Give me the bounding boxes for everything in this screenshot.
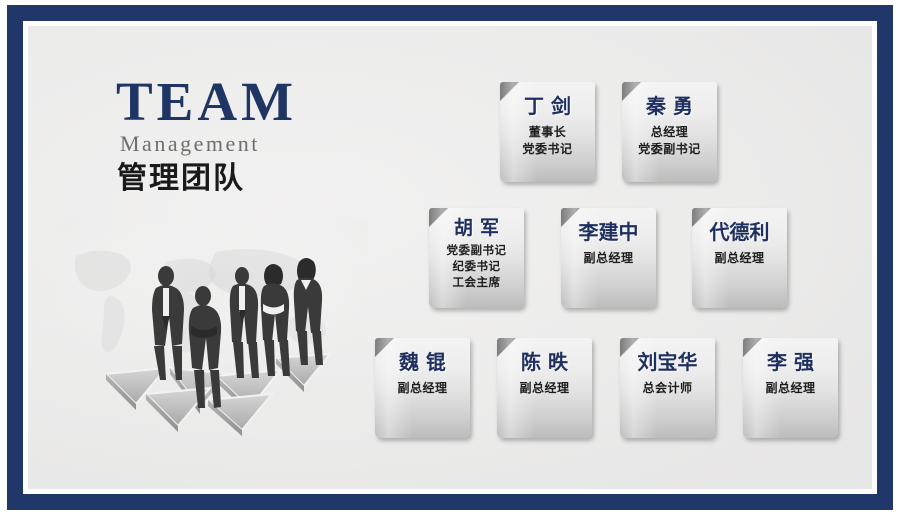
person-card[interactable]: 李建中副总经理: [561, 208, 656, 308]
person-card[interactable]: 胡军党委副书记纪委书记工会主席: [429, 208, 524, 308]
slide-canvas: TEAM Management 管理团队: [28, 26, 872, 489]
person-card-name: 李建中: [579, 222, 639, 243]
person-card-titles: 副总经理: [765, 380, 815, 397]
brand-block: TEAM Management 管理团队: [113, 74, 373, 194]
person-card-name: 胡军: [447, 219, 506, 239]
person-card-title-line: 副总经理: [714, 250, 764, 267]
person-card-titles: 总会计师: [642, 380, 692, 397]
person-card-title-line: 纪委书记: [447, 259, 507, 275]
person-card-name: 代德利: [710, 222, 770, 243]
person-card-title-line: 总会计师: [642, 380, 692, 397]
person-card-titles: 总经理党委副书记: [638, 124, 701, 159]
person-card-name: 刘宝华: [638, 352, 698, 373]
person-card-name: 秦勇: [639, 96, 700, 117]
person-card-titles: 副总经理: [397, 380, 447, 397]
person-card-title-line: 副总经理: [519, 380, 569, 397]
person-card-name: 魏锟: [392, 352, 453, 373]
person-card-name: 陈昳: [514, 352, 575, 373]
person-card-title-line: 工会主席: [447, 275, 507, 291]
person-card-title-line: 副总经理: [765, 380, 815, 397]
person-card-titles: 副总经理: [714, 250, 764, 267]
person-card-title-line: 副总经理: [397, 380, 447, 397]
person-card[interactable]: 陈昳副总经理: [497, 338, 592, 438]
person-card[interactable]: 秦勇总经理党委副书记: [622, 82, 717, 182]
person-card-title-line: 副总经理: [583, 250, 633, 267]
person-card-title-line: 党委书记: [522, 141, 572, 158]
person-card[interactable]: 丁剑董事长党委书记: [500, 82, 595, 182]
person-card-title-line: 总经理: [638, 124, 701, 141]
person-card-titles: 副总经理: [583, 250, 633, 267]
person-card[interactable]: 魏锟副总经理: [375, 338, 470, 438]
person-card-title-line: 董事长: [522, 124, 572, 141]
person-card-name: 丁剑: [517, 96, 578, 117]
brand-team-title: TEAM: [116, 74, 373, 129]
person-card-title-line: 党委副书记: [638, 141, 701, 158]
slide-root: TEAM Management 管理团队: [0, 0, 900, 515]
person-card[interactable]: 李强副总经理: [743, 338, 838, 438]
person-card-titles: 党委副书记纪委书记工会主席: [447, 243, 507, 291]
person-card-titles: 副总经理: [519, 380, 569, 397]
brand-management-label: Management: [120, 133, 373, 155]
person-card-titles: 董事长党委书记: [522, 124, 572, 159]
person-card-title-line: 党委副书记: [447, 243, 507, 259]
person-card[interactable]: 刘宝华总会计师: [620, 338, 715, 438]
person-card[interactable]: 代德利副总经理: [692, 208, 787, 308]
team-illustration: [58, 218, 368, 448]
brand-chinese-title: 管理团队: [117, 164, 373, 194]
person-card-name: 李强: [760, 352, 821, 373]
